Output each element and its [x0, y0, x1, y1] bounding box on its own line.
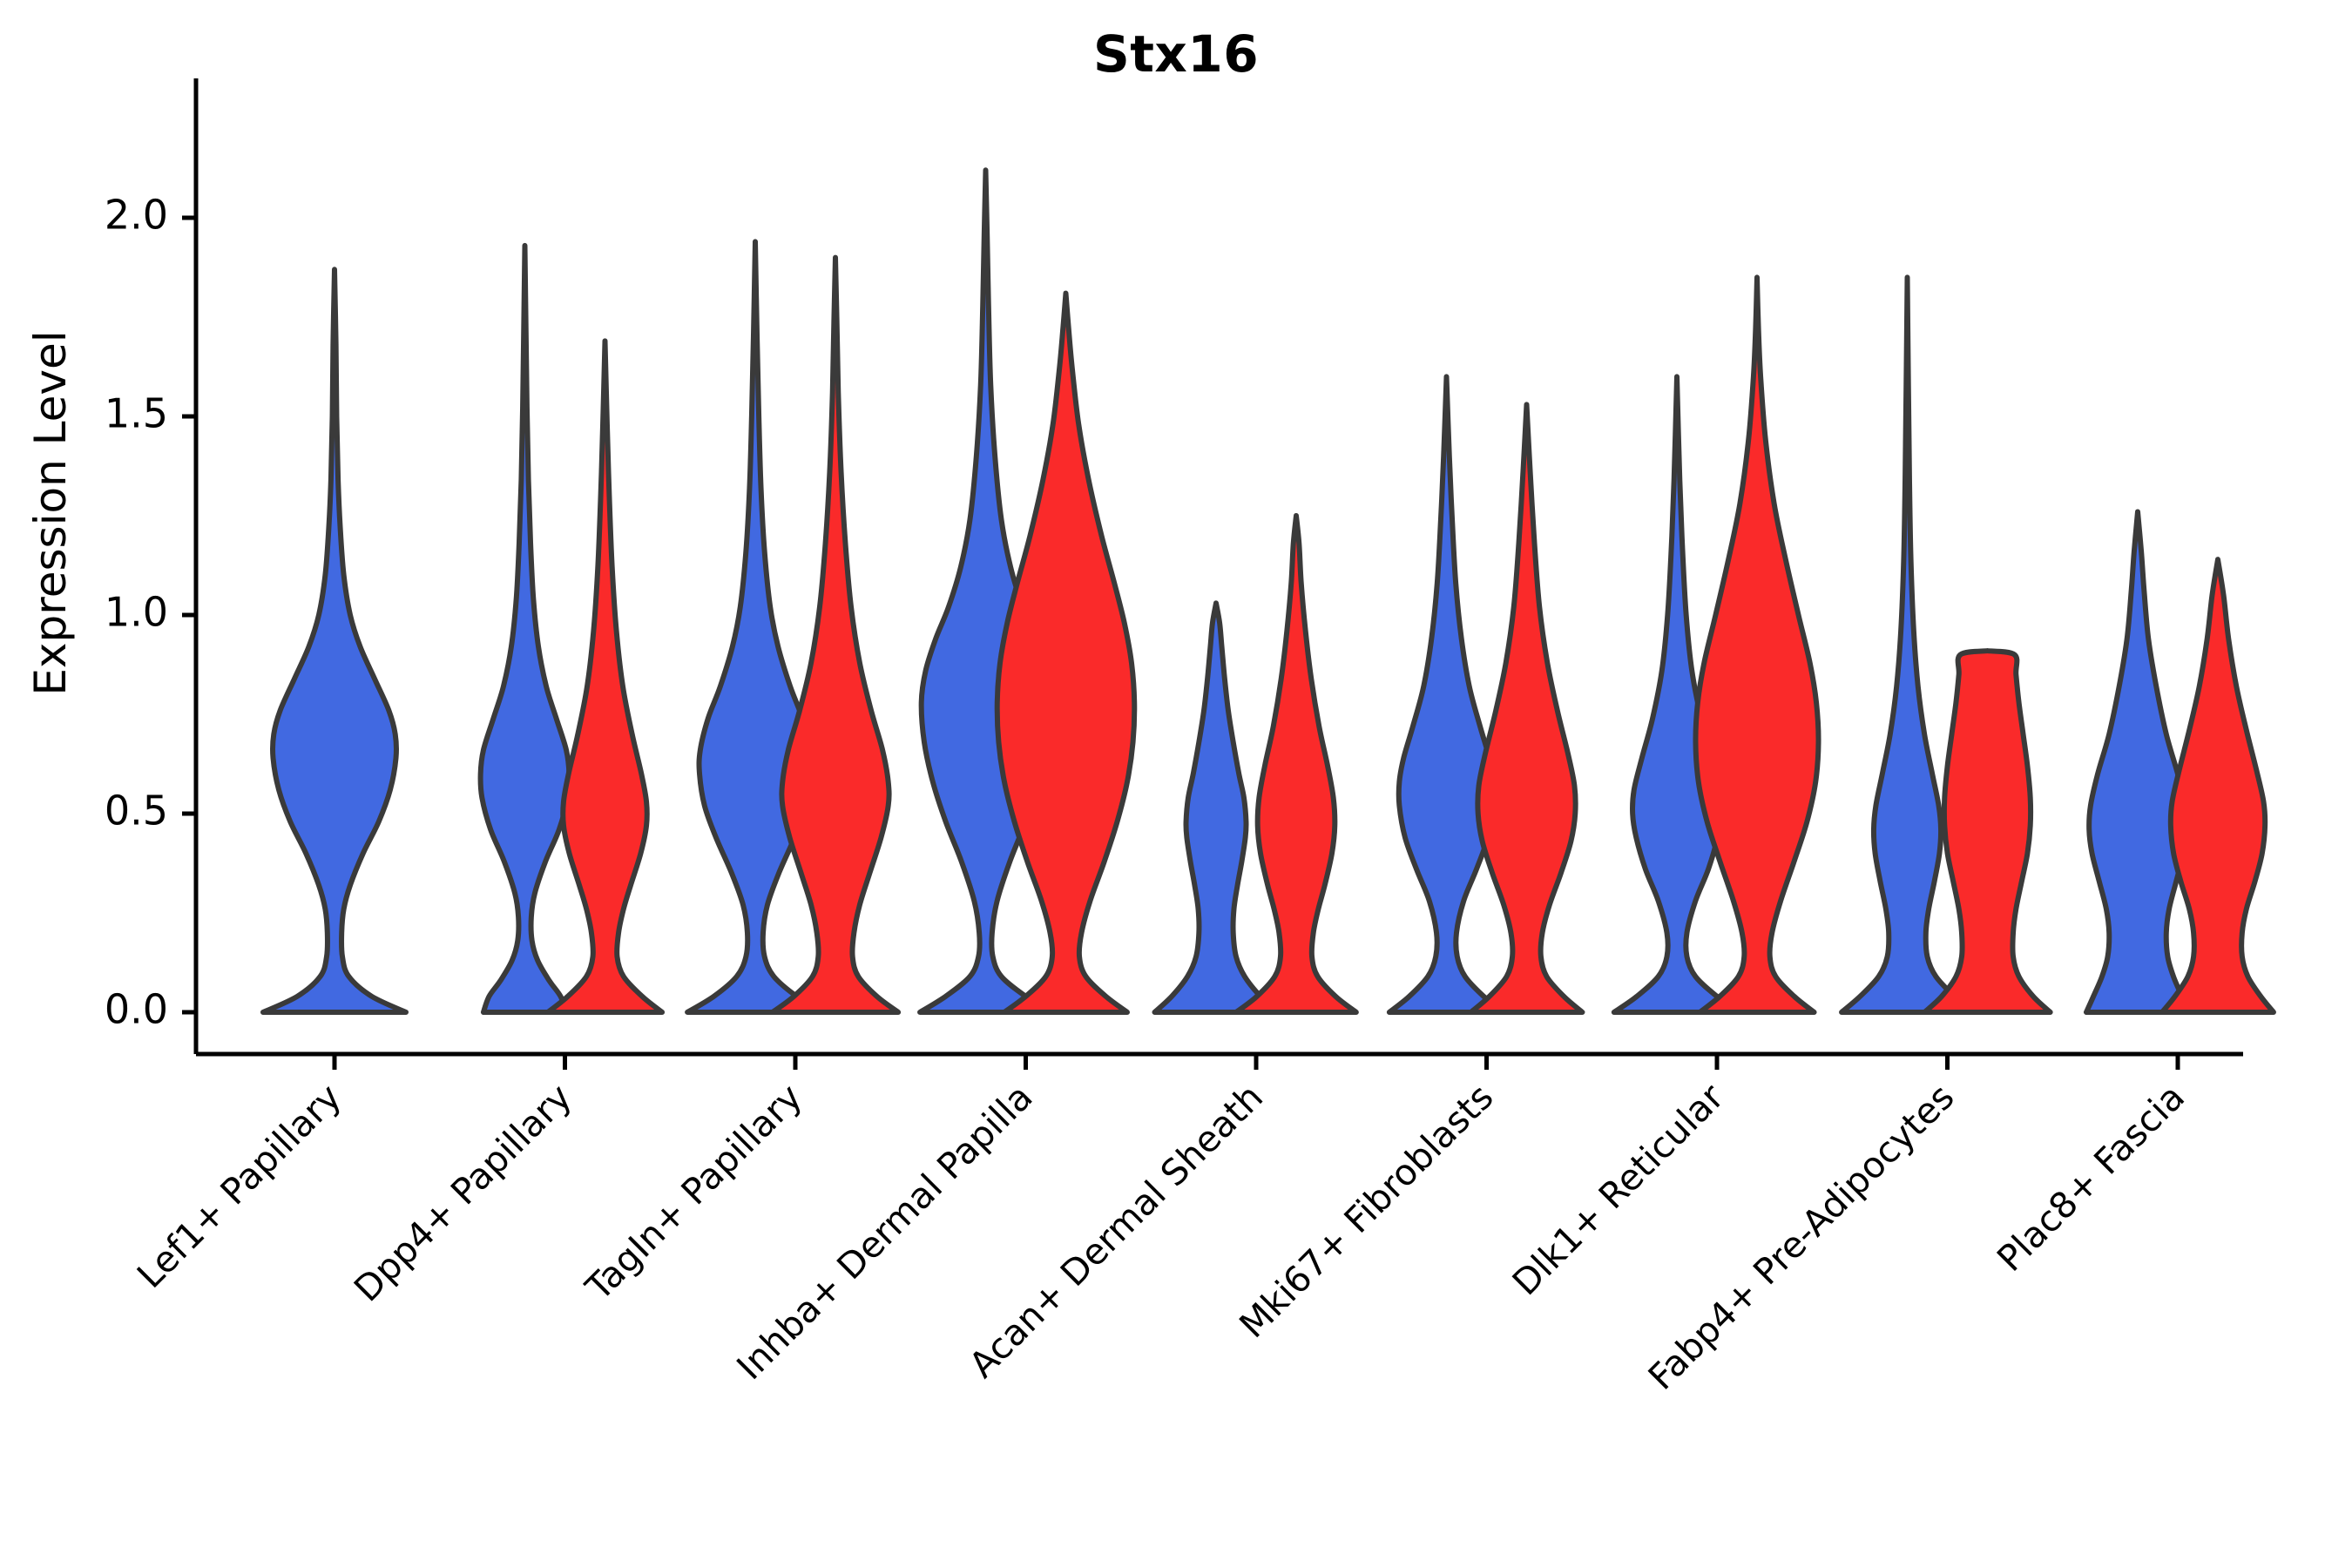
x-tick-label-0: Lef1+ Papillary	[129, 1076, 349, 1296]
x-tick-label-2: TagIn+ Papillary	[578, 1076, 811, 1309]
y-tick-label-1: 0.5	[105, 787, 168, 835]
violin-group_b-1	[548, 341, 662, 1012]
violin-group_b-5	[1471, 404, 1583, 1012]
violin-group_b-7	[1924, 651, 2050, 1012]
x-tick-label-5: Mki67+ Fibroblasts	[1232, 1076, 1502, 1346]
y-tick-label-4: 2.0	[105, 192, 168, 239]
violin-group_a-7	[1842, 277, 1973, 1012]
x-tick-label-8: Plac8+ Fascia	[1989, 1076, 2193, 1280]
violins-layer	[263, 170, 2274, 1012]
violin-group_a-8	[2086, 511, 2189, 1012]
x-tick-labels: Lef1+ PapillaryDpp4+ PapillaryTagIn+ Pap…	[129, 1054, 2193, 1398]
violin-group_a-0	[263, 269, 406, 1012]
violin-group_b-3	[997, 294, 1135, 1012]
violin-group_a-1	[481, 246, 570, 1012]
x-tick-label-6: Dlk1+ Reticular	[1504, 1076, 1732, 1303]
violin-group_a-2	[687, 241, 823, 1012]
chart-canvas: 0.00.51.01.52.0 Lef1+ PapillaryDpp4+ Pap…	[0, 0, 2352, 1568]
x-tick-label-1: Dpp4+ Papillary	[346, 1076, 579, 1309]
violin-group_b-8	[2162, 559, 2274, 1012]
violin-plot-figure: Stx16 Expression Level 0.00.51.01.52.0 L…	[0, 0, 2352, 1568]
violin-group_b-2	[773, 258, 898, 1012]
violin-group_a-5	[1389, 376, 1504, 1012]
y-tick-label-2: 1.0	[105, 589, 168, 636]
violin-group_b-6	[1695, 277, 1818, 1012]
violin-group_b-4	[1236, 516, 1356, 1012]
y-tick-label-3: 1.5	[105, 390, 168, 437]
y-tick-label-0: 0.0	[105, 986, 168, 1033]
